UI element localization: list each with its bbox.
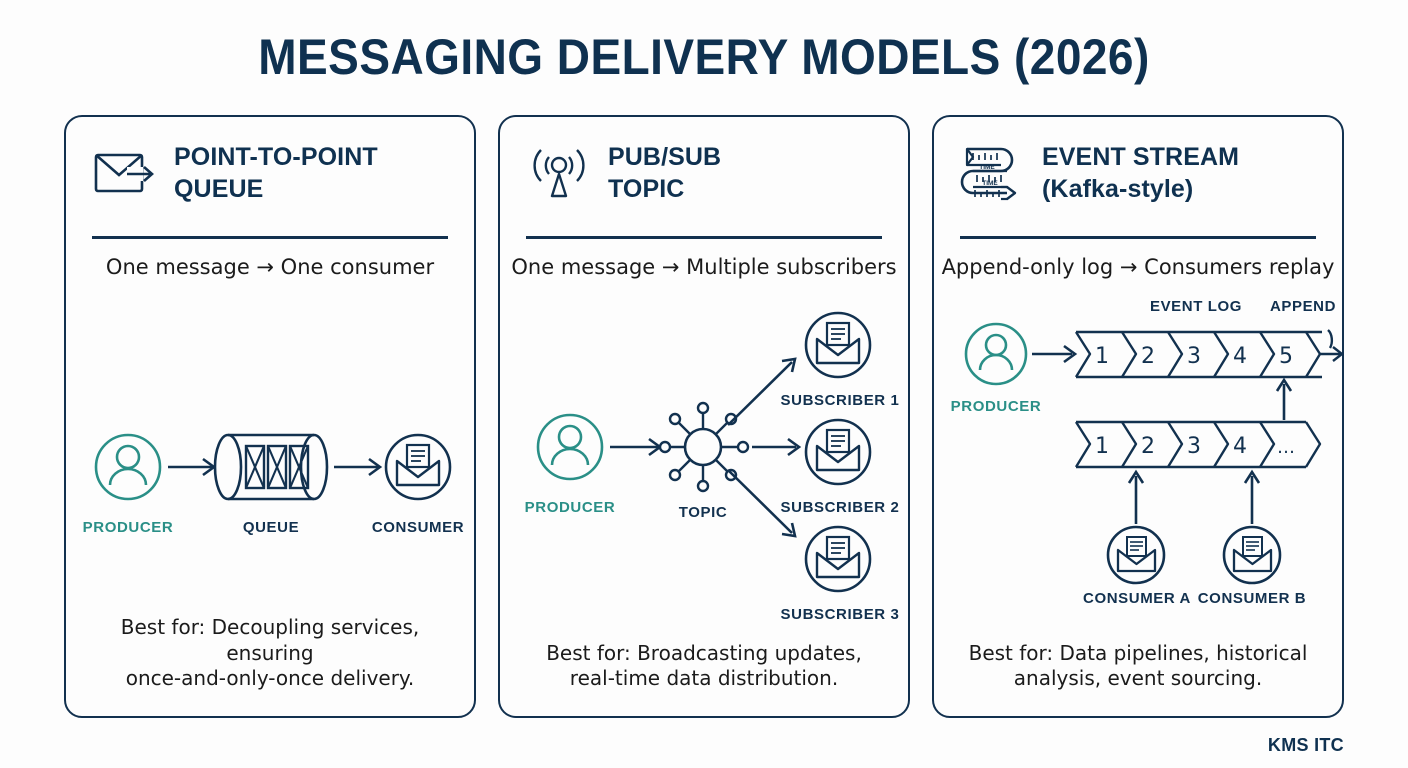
producer-icon	[96, 435, 160, 499]
node-label-subscriber-1: SUBSCRIBER 1	[781, 392, 900, 409]
cards-container: POINT-TO-POINT QUEUE One message → One c…	[64, 115, 1344, 720]
queue-diagram: PRODUCER QUEUE CONSUMER	[66, 297, 474, 657]
best-for-line1: Best for: Data pipelines, historical	[954, 641, 1322, 667]
card-title-line1: PUB/SUB	[608, 141, 721, 173]
log-cell-bottom-3: 3	[1187, 434, 1201, 459]
node-label-subscriber-3: SUBSCRIBER 3	[781, 606, 900, 623]
card-title-line1: POINT-TO-POINT	[174, 141, 378, 173]
card-best-for: Best for: Decoupling services, ensuring …	[86, 615, 454, 692]
producer-icon	[538, 415, 602, 479]
card-title-line2: QUEUE	[174, 173, 378, 205]
arrow-consumer-b-read	[1245, 472, 1259, 524]
card-title-line2: (Kafka-style)	[1042, 173, 1239, 205]
node-label-queue: QUEUE	[243, 519, 299, 536]
best-for-line2: real-time data distribution.	[520, 666, 888, 692]
card-divider	[92, 236, 448, 239]
card-title: EVENT STREAM (Kafka-style)	[1042, 141, 1239, 205]
arrow-producer-to-topic	[610, 439, 660, 455]
broadcast-antenna-icon	[526, 142, 592, 204]
node-label-consumer-b: CONSUMER B	[1198, 590, 1307, 607]
timeline-ruler-icon: TIME TIME	[960, 142, 1026, 204]
card-pub-sub-topic: PUB/SUB TOPIC One message → Multiple sub…	[498, 115, 910, 718]
best-for-line2: once-and-only-once delivery.	[86, 666, 454, 692]
node-label-subscriber-2: SUBSCRIBER 2	[781, 499, 900, 516]
arrow-append	[1277, 380, 1291, 420]
card-header: POINT-TO-POINT QUEUE	[66, 117, 474, 203]
node-label-topic: TOPIC	[679, 504, 728, 521]
card-event-stream: TIME TIME EVENT STREAM (Kafka-style) App…	[932, 115, 1344, 718]
card-best-for: Best for: Data pipelines, historical ana…	[954, 641, 1322, 692]
icon-time-label-2: TIME	[982, 180, 998, 187]
best-for-line2: analysis, event sourcing.	[954, 666, 1322, 692]
log-cell-top-5: 5	[1279, 344, 1293, 369]
card-header: TIME TIME EVENT STREAM (Kafka-style)	[934, 117, 1342, 203]
page-title: MESSAGING DELIVERY MODELS (2026)	[56, 28, 1351, 86]
node-label-consumer-a: CONSUMER A	[1083, 590, 1191, 607]
node-label-append: APPEND	[1270, 298, 1336, 315]
log-cell-bottom-4: 4	[1233, 434, 1247, 459]
event-stream-diagram: 1 2 3 4 5	[934, 292, 1342, 662]
icon-time-label-1: TIME	[979, 164, 995, 171]
node-label-producer: PRODUCER	[525, 499, 616, 516]
event-log-top-row: 1 2 3 4 5	[1076, 332, 1322, 377]
card-best-for: Best for: Broadcasting updates, real-tim…	[520, 641, 888, 692]
log-cell-bottom-5: …	[1277, 437, 1295, 458]
node-label-producer: PRODUCER	[83, 519, 174, 536]
card-divider	[960, 236, 1316, 239]
card-tagline: One message → One consumer	[66, 255, 474, 279]
footer-brand: KMS ITC	[1268, 735, 1344, 756]
card-point-to-point-queue: POINT-TO-POINT QUEUE One message → One c…	[64, 115, 476, 718]
log-cell-bottom-2: 2	[1141, 434, 1155, 459]
consumer-icon	[386, 435, 450, 499]
arrow-log-continues	[1320, 330, 1342, 361]
queue-cylinder-icon	[215, 435, 327, 499]
log-cell-top-2: 2	[1141, 344, 1155, 369]
consumer-a-icon	[1108, 527, 1164, 583]
arrow-producer-to-queue	[168, 459, 214, 475]
consumer-b-icon	[1224, 527, 1280, 583]
best-for-line1: Best for: Decoupling services, ensuring	[86, 615, 454, 666]
log-cell-top-1: 1	[1095, 344, 1109, 369]
infographic-page: MESSAGING DELIVERY MODELS (2026) POINT-T…	[0, 0, 1408, 768]
producer-icon	[966, 324, 1026, 384]
best-for-line1: Best for: Broadcasting updates,	[520, 641, 888, 667]
log-cell-bottom-1: 1	[1095, 434, 1109, 459]
card-title-line1: EVENT STREAM	[1042, 141, 1239, 173]
card-tagline: Append-only log → Consumers replay	[934, 255, 1342, 279]
card-header: PUB/SUB TOPIC	[500, 117, 908, 203]
event-log-bottom-row: 1 2 3 4 …	[1076, 422, 1320, 467]
subscriber-1-icon	[806, 313, 870, 377]
card-title-line2: TOPIC	[608, 173, 721, 205]
log-cell-top-4: 4	[1233, 344, 1247, 369]
card-title: POINT-TO-POINT QUEUE	[174, 141, 378, 205]
subscriber-3-icon	[806, 527, 870, 591]
node-label-event-log: EVENT LOG	[1150, 298, 1242, 315]
log-cell-top-3: 3	[1187, 344, 1201, 369]
subscriber-2-icon	[806, 420, 870, 484]
arrow-queue-to-consumer	[334, 459, 380, 475]
node-label-producer: PRODUCER	[951, 398, 1042, 415]
arrow-topic-to-subscriber-2	[752, 439, 799, 455]
node-label-consumer: CONSUMER	[372, 519, 464, 536]
pubsub-diagram: PRODUCER TOPIC SUBSCRIBER 1 SUBSCRIBER 2…	[500, 237, 908, 667]
card-title: PUB/SUB TOPIC	[608, 141, 721, 205]
arrow-consumer-a-read	[1129, 472, 1143, 524]
envelope-arrow-icon	[92, 142, 158, 204]
arrow-producer-to-log	[1032, 346, 1075, 362]
